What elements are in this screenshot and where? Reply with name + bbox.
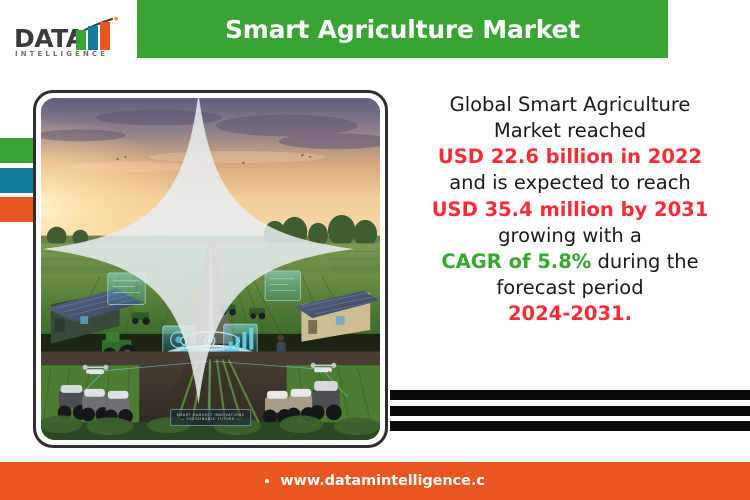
footer-url[interactable]: www.datamintelligence.c [280,473,485,489]
stat-line-5-tail: during the [591,250,698,273]
hero-caption-line-2: — SUSTAINABLE FUTURE — [177,417,245,422]
logo-bar-green [76,30,86,50]
header-banner: Smart Agriculture Market [137,0,668,58]
hero-image: SMART HARVEST INNOVATIONS — SUSTAINABLE … [41,98,380,440]
stat-line-5: CAGR of 5.8% during the [400,249,740,275]
stat-line-2: Market reached [400,118,740,144]
logo-bar-blue [88,26,98,50]
logo-subtitle: INTELLIGENCE [15,50,108,58]
page-title: Smart Agriculture Market [225,15,580,44]
stat-line-3: and is expected to reach [400,170,740,196]
decorative-black-stripe [390,390,750,400]
footer-content: www.datamintelligence.c [265,473,485,489]
stat-highlight-1: USD 22.6 billion in 2022 [400,144,740,170]
stat-highlight-2: USD 35.4 million by 2031 [400,197,740,223]
footer-bar: www.datamintelligence.c [0,462,750,500]
logo-bars-icon [76,22,120,50]
stat-highlight-4: 2024-2031. [400,301,740,327]
stat-line-1: Global Smart Agriculture [400,92,740,118]
decorative-black-stripe [390,421,750,431]
brand-logo[interactable]: DATA INTELLIGENCE [14,10,122,62]
hero-caption-plate: SMART HARVEST INNOVATIONS — SUSTAINABLE … [170,409,252,426]
logo-bar-orange [100,22,110,50]
decorative-black-stripe [390,406,750,416]
bullet-icon [265,479,269,483]
hero-image-frame: SMART HARVEST INNOVATIONS — SUSTAINABLE … [33,90,388,448]
stat-panel: Global Smart Agriculture Market reached … [400,92,740,327]
stat-line-4: growing with a [400,223,740,249]
stat-line-6: forecast period [400,275,740,301]
stat-highlight-3: CAGR of 5.8% [441,250,591,273]
